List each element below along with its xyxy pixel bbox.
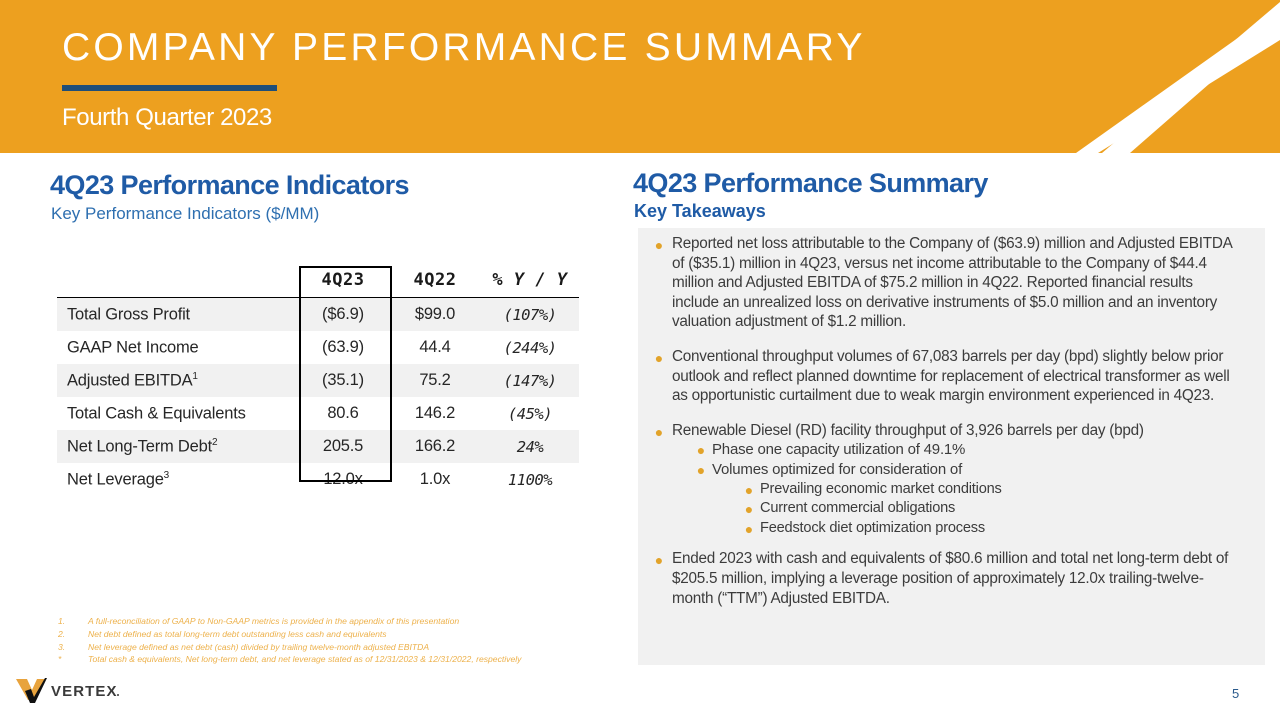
row-label-footnote-ref: 2 bbox=[212, 437, 217, 448]
bullet-dot-icon: ● bbox=[646, 421, 672, 439]
footnote-text: Net leverage defined as net debt (cash) … bbox=[88, 641, 648, 654]
footnote-marker: 3. bbox=[58, 641, 88, 654]
vertex-logo-wordmark: VERTEX bbox=[51, 683, 118, 700]
bullet-item: ● Ended 2023 with cash and equivalents o… bbox=[638, 549, 1265, 608]
slide: COMPANY PERFORMANCE SUMMARY Fourth Quart… bbox=[0, 0, 1280, 720]
footnotes-list: 1. A full-reconciliation of GAAP to Non-… bbox=[58, 615, 648, 666]
cell-4q22: 166.2 bbox=[389, 430, 481, 463]
cell-yoy: (107%) bbox=[481, 298, 579, 332]
right-section-subheading: Key Takeaways bbox=[634, 201, 766, 222]
page-number: 5 bbox=[1232, 686, 1239, 701]
row-label: Net Long-Term Debt2 bbox=[57, 430, 297, 463]
table-row: Total Cash & Equivalents 80.6 146.2 (45%… bbox=[57, 397, 579, 430]
cell-4q22: $99.0 bbox=[389, 298, 481, 332]
spacer bbox=[638, 538, 1265, 549]
cell-yoy: (244%) bbox=[481, 331, 579, 364]
row-label-text: Total Cash & Equivalents bbox=[67, 404, 246, 422]
cell-4q23: ($6.9) bbox=[297, 298, 389, 332]
row-label: Total Gross Profit bbox=[57, 298, 297, 332]
bullet-item: ● Reported net loss attributable to the … bbox=[638, 234, 1265, 332]
row-label: Adjusted EBITDA1 bbox=[57, 364, 297, 397]
page-title: COMPANY PERFORMANCE SUMMARY bbox=[62, 28, 866, 67]
cell-4q22: 146.2 bbox=[389, 397, 481, 430]
footnote-marker: 2. bbox=[58, 628, 88, 641]
cell-4q23: 12.0x bbox=[297, 463, 389, 496]
footnote-marker: 1. bbox=[58, 615, 88, 628]
slide-header: COMPANY PERFORMANCE SUMMARY Fourth Quart… bbox=[0, 0, 1280, 153]
bullet-text: Reported net loss attributable to the Co… bbox=[672, 234, 1242, 332]
footnote-text: A full-reconciliation of GAAP to Non-GAA… bbox=[88, 615, 648, 628]
bullet-dot-icon: ● bbox=[690, 440, 712, 457]
bullet-dot-icon: ● bbox=[646, 234, 672, 252]
left-section-subheading: Key Performance Indicators ($/MM) bbox=[51, 204, 319, 224]
bullet-dot-icon: ● bbox=[646, 549, 672, 567]
vertex-logo-svg: VERTEX bbox=[14, 676, 124, 706]
cell-yoy: (147%) bbox=[481, 364, 579, 397]
bullet-item-sub: ● Phase one capacity utilization of 49.1… bbox=[638, 440, 1265, 460]
kpi-table: 4Q23 4Q22 % Y / Y Total Gross Profit ($6… bbox=[57, 266, 579, 496]
footnote-item: * Total cash & equivalents, Net long-ter… bbox=[58, 653, 648, 666]
right-section-heading: 4Q23 Performance Summary bbox=[633, 168, 988, 199]
key-takeaways-panel: ● Reported net loss attributable to the … bbox=[638, 228, 1265, 665]
footnote-marker: * bbox=[58, 653, 88, 666]
bullet-text: Ended 2023 with cash and equivalents of … bbox=[672, 549, 1242, 608]
bullet-item-sub: ● Volumes optimized for consideration of bbox=[638, 460, 1265, 480]
bullet-text: Prevailing economic market conditions bbox=[760, 480, 1002, 500]
cell-4q23: (63.9) bbox=[297, 331, 389, 364]
bullet-item-subsub: ● Prevailing economic market conditions bbox=[638, 480, 1265, 500]
cell-4q23: 80.6 bbox=[297, 397, 389, 430]
footnote-text: Net debt defined as total long-term debt… bbox=[88, 628, 648, 641]
bullet-text: Phase one capacity utilization of 49.1% bbox=[712, 440, 965, 460]
cell-yoy: 1100% bbox=[481, 463, 579, 496]
cell-4q22: 44.4 bbox=[389, 331, 481, 364]
bullet-item: ● Conventional throughput volumes of 67,… bbox=[638, 347, 1265, 406]
key-takeaways-list: ● Reported net loss attributable to the … bbox=[638, 228, 1265, 623]
bullet-dot-icon: ● bbox=[738, 499, 760, 516]
bullet-item-subsub: ● Feedstock diet optimization process bbox=[638, 519, 1265, 539]
vertex-check-icon bbox=[16, 678, 47, 703]
row-label-footnote-ref: 1 bbox=[192, 371, 197, 382]
row-label-text: Net Leverage bbox=[67, 470, 164, 488]
bullet-dot-icon: ● bbox=[646, 347, 672, 365]
table-header-row: 4Q23 4Q22 % Y / Y bbox=[57, 266, 579, 298]
bullet-text: Conventional throughput volumes of 67,08… bbox=[672, 347, 1242, 406]
table-row: Net Long-Term Debt2 205.5 166.2 24% bbox=[57, 430, 579, 463]
table-row: GAAP Net Income (63.9) 44.4 (244%) bbox=[57, 331, 579, 364]
footnote-text: Total cash & equivalents, Net long-term … bbox=[88, 653, 648, 666]
bullet-dot-icon: ● bbox=[738, 480, 760, 497]
row-label: Total Cash & Equivalents bbox=[57, 397, 297, 430]
cell-4q22: 1.0x bbox=[389, 463, 481, 496]
bullet-dot-icon: ● bbox=[738, 519, 760, 536]
row-label-text: GAAP Net Income bbox=[67, 338, 199, 356]
left-section-heading: 4Q23 Performance Indicators bbox=[50, 170, 409, 201]
column-header-metric bbox=[57, 266, 297, 298]
row-label-footnote-ref: 3 bbox=[164, 470, 169, 481]
bullet-text: Feedstock diet optimization process bbox=[760, 519, 985, 539]
bullet-item-subsub: ● Current commercial obligations bbox=[638, 499, 1265, 519]
column-header-4q23: 4Q23 bbox=[297, 266, 389, 298]
bullet-text: Current commercial obligations bbox=[760, 499, 955, 519]
row-label-text: Net Long-Term Debt bbox=[67, 437, 212, 455]
row-label: GAAP Net Income bbox=[57, 331, 297, 364]
cell-yoy: 24% bbox=[481, 430, 579, 463]
column-header-yoy: % Y / Y bbox=[481, 266, 579, 298]
bullet-text: Renewable Diesel (RD) facility throughpu… bbox=[672, 421, 1242, 441]
table-row: Adjusted EBITDA1 (35.1) 75.2 (147%) bbox=[57, 364, 579, 397]
cell-4q22: 75.2 bbox=[389, 364, 481, 397]
footnote-item: 2. Net debt defined as total long-term d… bbox=[58, 628, 648, 641]
page-subtitle: Fourth Quarter 2023 bbox=[62, 104, 272, 132]
title-underline-rule bbox=[62, 85, 277, 91]
vertex-logo: VERTEX bbox=[14, 676, 124, 706]
vertex-logo-tm-dot bbox=[117, 694, 119, 696]
bullet-text: Volumes optimized for consideration of bbox=[712, 460, 962, 480]
cell-4q23: (35.1) bbox=[297, 364, 389, 397]
column-header-4q22: 4Q22 bbox=[389, 266, 481, 298]
row-label: Net Leverage3 bbox=[57, 463, 297, 496]
table-row: Net Leverage3 12.0x 1.0x 1100% bbox=[57, 463, 579, 496]
row-label-text: Adjusted EBITDA bbox=[67, 371, 192, 389]
bullet-dot-icon: ● bbox=[690, 460, 712, 477]
cell-yoy: (45%) bbox=[481, 397, 579, 430]
table-row: Total Gross Profit ($6.9) $99.0 (107%) bbox=[57, 298, 579, 332]
bullet-item: ● Renewable Diesel (RD) facility through… bbox=[638, 421, 1265, 441]
row-label-text: Total Gross Profit bbox=[67, 305, 190, 323]
header-swoosh-decoration bbox=[980, 0, 1280, 153]
footnote-item: 3. Net leverage defined as net debt (cas… bbox=[58, 641, 648, 654]
cell-4q23: 205.5 bbox=[297, 430, 389, 463]
footnote-item: 1. A full-reconciliation of GAAP to Non-… bbox=[58, 615, 648, 628]
